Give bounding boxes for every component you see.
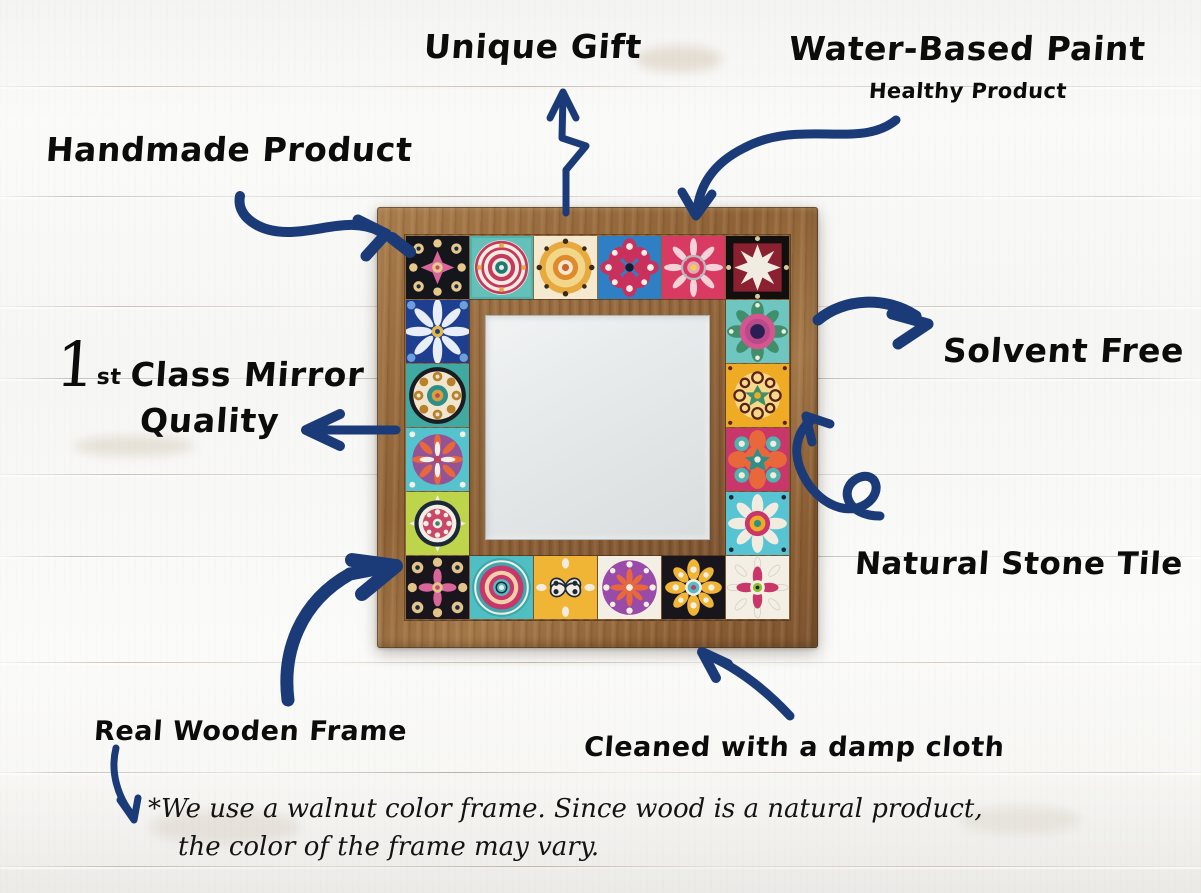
- label-handmade-product: Handmade Product: [45, 133, 414, 168]
- label-real-wooden-frame: Real Wooden Frame: [93, 718, 408, 746]
- disclaimer-line-2: the color of the frame may vary.: [178, 828, 1148, 866]
- tile-bottom-3: [534, 556, 597, 619]
- ordinal-number: 1: [54, 340, 97, 391]
- label-solvent-free: Solvent Free: [942, 334, 1186, 369]
- tile-top-6: [726, 236, 789, 299]
- tile-right-1: [726, 300, 789, 363]
- tile-right-3: [726, 428, 789, 491]
- mirror-label-line-2: Quality: [139, 401, 367, 440]
- tile-left-4: [406, 492, 469, 555]
- tile-right-2: [726, 364, 789, 427]
- mirror-glass: [485, 315, 710, 540]
- label-cleaned-damp-cloth: Cleaned with a damp cloth: [583, 734, 1006, 762]
- mosaic-mirror-product: [377, 207, 818, 648]
- tile-top-4: [598, 236, 661, 299]
- tile-bottom-1: [406, 556, 469, 619]
- tile-bottom-2: [470, 556, 533, 619]
- label-natural-stone-tile: Natural Stone Tile: [854, 548, 1184, 581]
- infographic-canvas: Handmade Product Unique Gift Water-Based…: [0, 0, 1201, 893]
- tile-top-1: [406, 236, 469, 299]
- tile-left-1: [406, 300, 469, 363]
- disclaimer-text: *We use a walnut color frame. Since wood…: [148, 790, 1148, 867]
- label-water-based-paint: Water-Based Paint: [788, 32, 1147, 67]
- disclaimer-line-1: *We use a walnut color frame. Since wood…: [148, 790, 1148, 828]
- tile-top-5: [662, 236, 725, 299]
- tile-left-2: [406, 364, 469, 427]
- tile-top-2: [470, 236, 533, 299]
- tile-bottom-6: [726, 556, 789, 619]
- tile-left-3: [406, 428, 469, 491]
- tile-bottom-4: [598, 556, 661, 619]
- label-first-class-mirror-quality: 1 st Class Mirror Quality: [56, 340, 365, 440]
- label-healthy-product: Healthy Product: [868, 80, 1067, 102]
- ordinal-suffix: st: [96, 365, 122, 390]
- tile-right-4: [726, 492, 789, 555]
- tile-bottom-5: [662, 556, 725, 619]
- mirror-label-line-1: Class Mirror: [129, 355, 366, 394]
- label-unique-gift: Unique Gift: [423, 30, 643, 65]
- tile-top-3: [534, 236, 597, 299]
